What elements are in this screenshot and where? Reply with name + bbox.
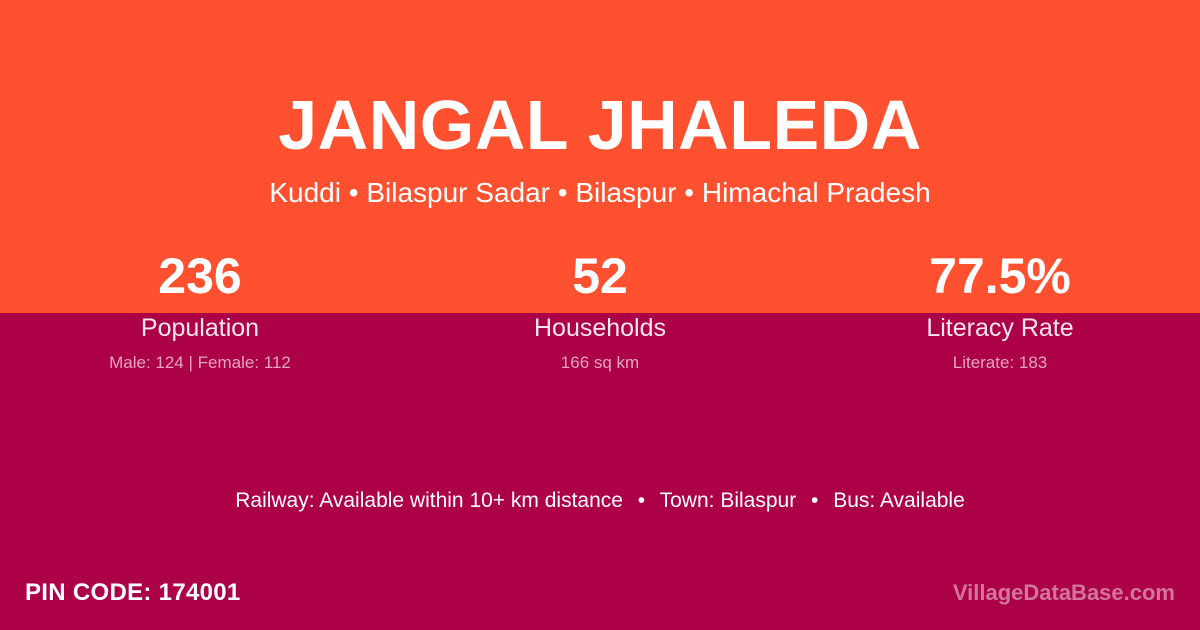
infrastructure-bus: Bus: Available — [833, 489, 965, 512]
infrastructure-separator-2: • — [802, 487, 827, 514]
stat-literacy: 77.5% Literacy Rate Literate: 183 — [800, 248, 1200, 374]
stat-households-sub: 166 sq km — [400, 352, 800, 374]
stat-population-label: Population — [0, 313, 400, 343]
site-watermark: VillageDataBase.com — [953, 579, 1175, 607]
stat-literacy-sub: Literate: 183 — [800, 352, 1200, 374]
infrastructure-town: Town: Bilaspur — [660, 489, 797, 512]
page-title: JANGAL JHALEDA — [0, 0, 1200, 164]
stat-literacy-label: Literacy Rate — [800, 313, 1200, 343]
village-info-card: JANGAL JHALEDA Kuddi • Bilaspur Sadar • … — [0, 0, 1200, 630]
stat-households-label: Households — [400, 313, 800, 343]
header: JANGAL JHALEDA Kuddi • Bilaspur Sadar • … — [0, 0, 1200, 210]
stat-literacy-value: 77.5% — [800, 248, 1200, 304]
pin-code: PIN CODE: 174001 — [25, 578, 241, 608]
infrastructure-separator-1: • — [629, 487, 654, 514]
stat-population-value: 236 — [0, 248, 400, 304]
stats-row: 236 Population Male: 124 | Female: 112 5… — [0, 248, 1200, 374]
infrastructure-railway: Railway: Available within 10+ km distanc… — [235, 489, 623, 512]
stat-households-value: 52 — [400, 248, 800, 304]
stat-population-sub: Male: 124 | Female: 112 — [0, 352, 400, 374]
infrastructure-row: Railway: Available within 10+ km distanc… — [0, 487, 1200, 514]
stat-population: 236 Population Male: 124 | Female: 112 — [0, 248, 400, 374]
stat-households: 52 Households 166 sq km — [400, 248, 800, 374]
breadcrumb: Kuddi • Bilaspur Sadar • Bilaspur • Hima… — [0, 164, 1200, 210]
